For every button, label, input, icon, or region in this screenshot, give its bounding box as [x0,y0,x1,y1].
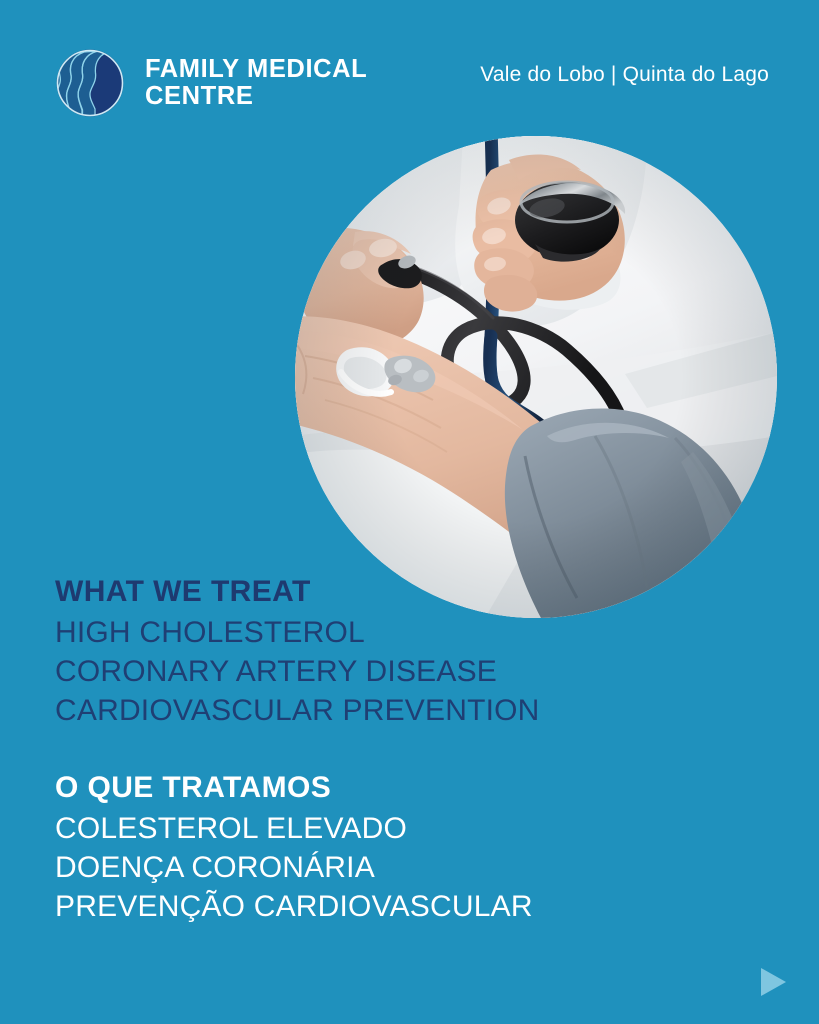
english-item-2: CORONARY ARTERY DISEASE [55,652,695,691]
locations-label: Vale do Lobo | Quinta do Lago [480,63,769,87]
portuguese-heading: O QUE TRATAMOS [55,768,695,807]
english-item-1: HIGH CHOLESTEROL [55,613,695,652]
header: FAMILY MEDICAL CENTRE Vale do Lobo | Qui… [54,47,769,127]
portuguese-item-1: COLESTEROL ELEVADO [55,809,695,848]
portuguese-item-3: PREVENÇÃO CARDIOVASCULAR [55,887,695,926]
english-block: WHAT WE TREAT HIGH CHOLESTEROL CORONARY … [55,572,695,730]
brand-lockup: FAMILY MEDICAL CENTRE [54,47,367,119]
blood-pressure-measurement-photo [295,136,777,618]
treatment-copy: WHAT WE TREAT HIGH CHOLESTEROL CORONARY … [55,572,695,926]
play-triangle-next-icon[interactable] [757,966,789,998]
portuguese-item-2: DOENÇA CORONÁRIA [55,848,695,887]
brand-name: FAMILY MEDICAL CENTRE [145,56,367,109]
english-heading: WHAT WE TREAT [55,572,695,611]
poster-slide: FAMILY MEDICAL CENTRE Vale do Lobo | Qui… [0,0,819,1024]
three-faces-circle-logo-icon [54,47,126,119]
portuguese-block: O QUE TRATAMOS COLESTEROL ELEVADO DOENÇA… [55,768,695,926]
english-item-3: CARDIOVASCULAR PREVENTION [55,691,695,730]
